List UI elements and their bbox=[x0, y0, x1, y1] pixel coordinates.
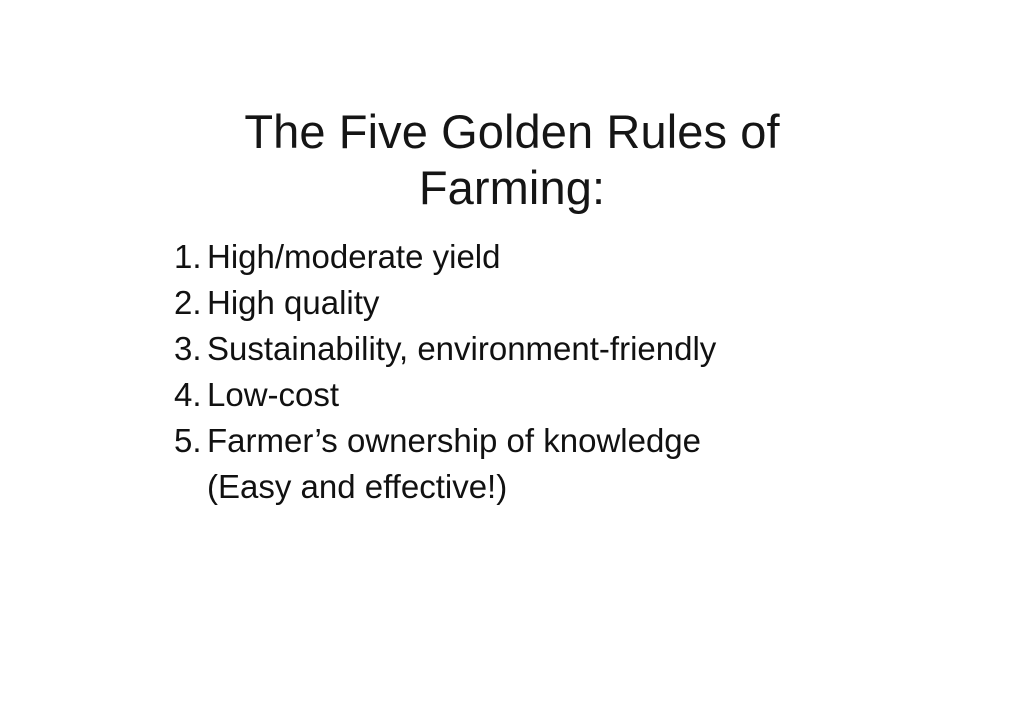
list-item-label: Sustainability, environment-friendly bbox=[207, 326, 716, 372]
list-item-label: High quality bbox=[207, 280, 379, 326]
slide-title-line-2: Farming: bbox=[170, 160, 854, 216]
list-item: 5. Farmer’s ownership of knowledge (Easy… bbox=[174, 418, 894, 510]
list-item-number: 1. bbox=[174, 234, 207, 280]
list-item: 1. High/moderate yield bbox=[174, 234, 894, 280]
slide-title-line-1: The Five Golden Rules of bbox=[170, 104, 854, 160]
list-item-number: 5. bbox=[174, 418, 207, 464]
list-item-number: 4. bbox=[174, 372, 207, 418]
slide-canvas: The Five Golden Rules of Farming: 1. Hig… bbox=[0, 0, 1024, 724]
slide-title: The Five Golden Rules of Farming: bbox=[170, 104, 854, 216]
list-item: 3. Sustainability, environment-friendly bbox=[174, 326, 894, 372]
list-item-number: 2. bbox=[174, 280, 207, 326]
list-item-label: High/moderate yield bbox=[207, 234, 501, 280]
list-item-number: 3. bbox=[174, 326, 207, 372]
list-item: 4. Low-cost bbox=[174, 372, 894, 418]
golden-rules-list: 1. High/moderate yield 2. High quality 3… bbox=[174, 234, 894, 510]
list-item-label: Low-cost bbox=[207, 372, 339, 418]
list-item-label: Farmer’s ownership of knowledge bbox=[207, 418, 701, 464]
list-item: 2. High quality bbox=[174, 280, 894, 326]
list-item-continuation: (Easy and effective!) bbox=[207, 464, 894, 510]
list-item-main-line: 5. Farmer’s ownership of knowledge bbox=[174, 418, 894, 464]
